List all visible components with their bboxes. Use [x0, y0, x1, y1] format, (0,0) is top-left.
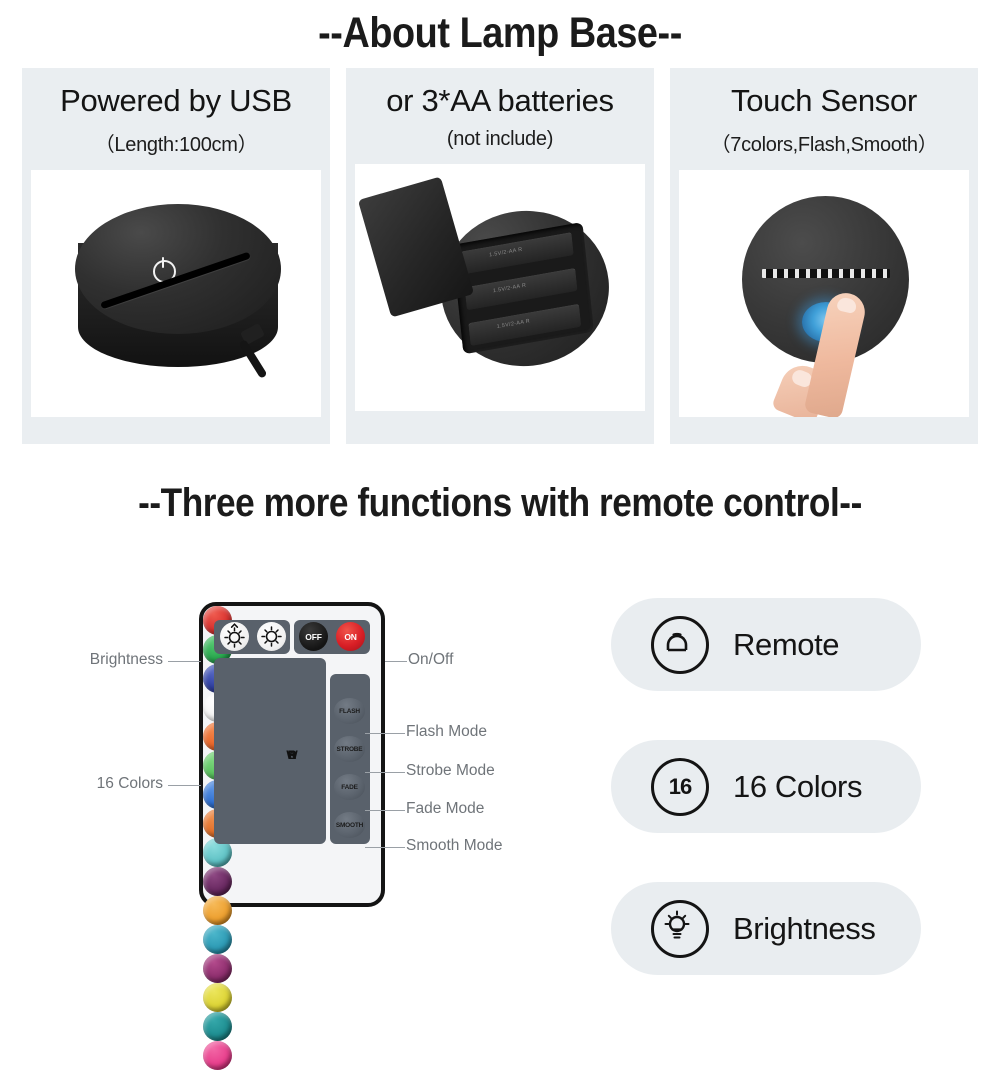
- card-title: Powered by USB: [60, 82, 292, 120]
- battery-compartment-photo: 1.5V/2-AA R 1.5V/2-AA R 1.5V/2-AA R: [355, 164, 645, 411]
- card-powered-by-usb: Powered by USB （Length:100cm）: [22, 68, 330, 444]
- usb-lamp-base-photo: [31, 170, 321, 417]
- section-title-remote: --Three more functions with remote contr…: [60, 478, 940, 528]
- callout-leader-line: [365, 733, 405, 734]
- battery-slot: 1.5V/2-AA R: [468, 304, 581, 346]
- lamp-base-top: [75, 204, 281, 334]
- feature-pill-brightness[interactable]: Brightness: [611, 882, 921, 975]
- battery-cover-lid: [358, 177, 474, 318]
- callout-fade-mode: Fade Mode: [406, 800, 484, 818]
- strobe-mode-label: STROBE: [334, 736, 365, 762]
- feature-pill-remote[interactable]: Remote: [611, 598, 921, 691]
- battery-slot-label: 1.5V/2-AA R: [489, 247, 523, 258]
- callout-leader-line: [168, 661, 201, 662]
- callout-leader-line: [365, 847, 405, 848]
- card-subtitle: （Length:100cm）: [95, 128, 258, 157]
- led-strip: [762, 269, 890, 278]
- battery-slot-label: 1.5V/2-AA R: [493, 283, 527, 294]
- callout-leader-line: [168, 785, 201, 786]
- remote-control: OFF ON R G B W FLASH STROBE FADE SMOOTH: [199, 602, 385, 907]
- page-title: --About Lamp Base--: [60, 8, 940, 58]
- bulb-brightness-icon: [651, 900, 709, 958]
- callout-on-off: On/Off: [408, 651, 453, 669]
- smooth-mode-label: SMOOTH: [334, 812, 365, 838]
- remote-signal-icon: [651, 616, 709, 674]
- callout-smooth-mode: Smooth Mode: [406, 837, 503, 855]
- callout-flash-mode: Flash Mode: [406, 723, 487, 741]
- feature-label: Remote: [733, 627, 839, 663]
- callout-leader-line: [365, 772, 405, 773]
- color-button-teal[interactable]: [203, 925, 232, 954]
- card-title: or 3*AA batteries: [386, 82, 614, 120]
- color-button-magenta[interactable]: [203, 954, 232, 983]
- fade-mode-label: FADE: [334, 774, 365, 800]
- callout-leader-line: [365, 810, 405, 811]
- sixteen-badge-icon: 16: [651, 758, 709, 816]
- callout-16-colors: 16 Colors: [60, 775, 163, 793]
- card-subtitle: （7colors,Flash,Smooth）: [711, 128, 938, 157]
- fade-mode-button[interactable]: FADE: [334, 774, 365, 800]
- callout-leader-line: [385, 661, 407, 662]
- flash-mode-button[interactable]: FLASH: [334, 698, 365, 724]
- card-title: Touch Sensor: [731, 82, 917, 120]
- battery-well: 1.5V/2-AA R 1.5V/2-AA R 1.5V/2-AA R: [452, 222, 594, 354]
- sixteen-badge-text: 16: [654, 761, 706, 813]
- callout-strobe-mode: Strobe Mode: [406, 762, 495, 780]
- color-button-pink[interactable]: [203, 1041, 232, 1070]
- feature-label: Brightness: [733, 911, 875, 947]
- smooth-mode-button[interactable]: SMOOTH: [334, 812, 365, 838]
- lamp-base-cards: Powered by USB （Length:100cm） or 3*AA ba…: [22, 68, 978, 444]
- color-button-deepteal[interactable]: [203, 1012, 232, 1041]
- battery-slot: 1.5V/2-AA R: [461, 232, 574, 274]
- card-subtitle: (not include): [447, 128, 553, 151]
- touch-sensor-photo: [679, 170, 969, 417]
- battery-slot-label: 1.5V/2-AA R: [496, 319, 530, 330]
- strobe-mode-button[interactable]: STROBE: [334, 736, 365, 762]
- card-touch-sensor: Touch Sensor （7colors,Flash,Smooth）: [670, 68, 978, 444]
- battery-slot: 1.5V/2-AA R: [465, 268, 578, 310]
- card-aa-batteries: or 3*AA batteries (not include) 1.5V/2-A…: [346, 68, 654, 444]
- color-button-white[interactable]: W: [203, 693, 232, 722]
- feature-label: 16 Colors: [733, 769, 862, 805]
- flash-mode-label: FLASH: [334, 698, 365, 724]
- callout-brightness: Brightness: [58, 651, 163, 669]
- color-button-yellow[interactable]: [203, 983, 232, 1012]
- feature-pill-16-colors[interactable]: 16 16 Colors: [611, 740, 921, 833]
